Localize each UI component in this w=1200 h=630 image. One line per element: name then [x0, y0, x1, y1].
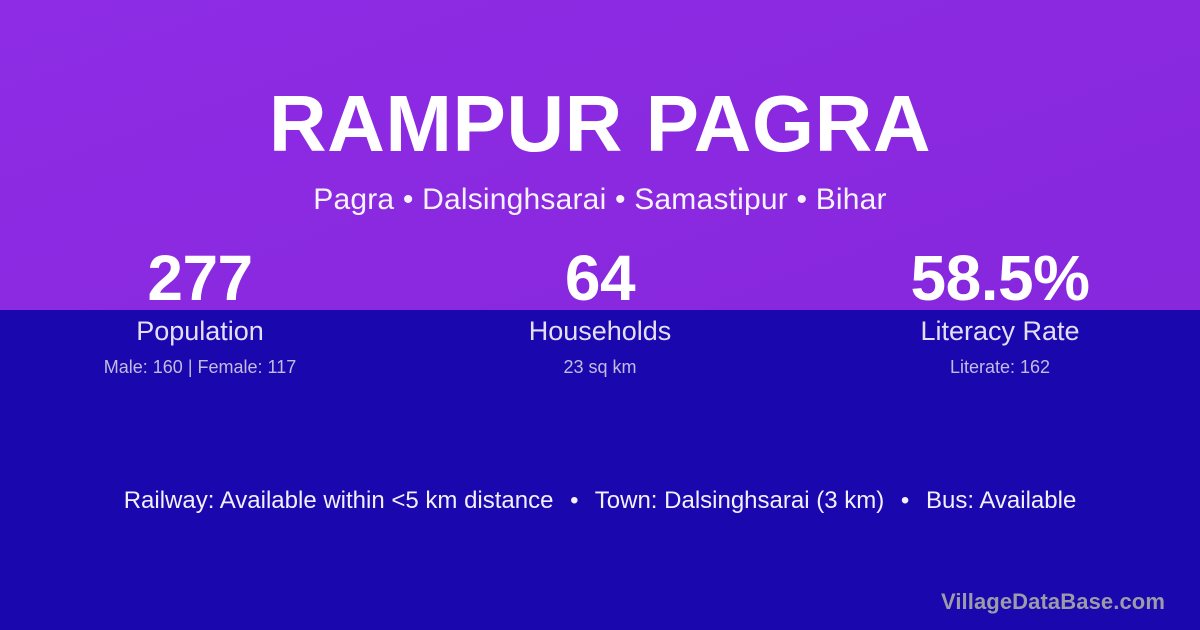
stat-population-label: Population [0, 316, 400, 347]
stat-households: 64 Households 23 sq km [400, 246, 800, 378]
site-brand: VillageDataBase.com [941, 589, 1165, 615]
breadcrumb: Pagra • Dalsinghsarai • Samastipur • Bih… [0, 183, 1200, 216]
stat-literacy-label: Literacy Rate [800, 316, 1200, 347]
amenity-separator-2: • [891, 487, 919, 514]
amenity-bus: Bus: Available [926, 487, 1076, 514]
stats-row: 277 Population Male: 160 | Female: 117 6… [0, 246, 1200, 378]
stat-literacy-sub: Literate: 162 [800, 357, 1200, 378]
stat-households-sub: 23 sq km [400, 357, 800, 378]
stat-households-label: Households [400, 316, 800, 347]
stat-literacy: 58.5% Literacy Rate Literate: 162 [800, 246, 1200, 378]
stat-households-value: 64 [400, 246, 800, 308]
amenity-separator-1: • [560, 487, 588, 514]
amenity-railway: Railway: Available within <5 km distance [124, 487, 554, 514]
amenities-line: Railway: Available within <5 km distance… [0, 485, 1200, 516]
stat-population-value: 277 [0, 246, 400, 308]
stat-population-sub: Male: 160 | Female: 117 [0, 357, 400, 378]
card-header: RAMPUR PAGRA Pagra • Dalsinghsarai • Sam… [0, 0, 1200, 216]
page-title: RAMPUR PAGRA [0, 84, 1200, 164]
stat-literacy-value: 58.5% [800, 246, 1200, 308]
village-info-card: RAMPUR PAGRA Pagra • Dalsinghsarai • Sam… [0, 0, 1200, 630]
amenity-town: Town: Dalsinghsarai (3 km) [595, 487, 884, 514]
stat-population: 277 Population Male: 160 | Female: 117 [0, 246, 400, 378]
